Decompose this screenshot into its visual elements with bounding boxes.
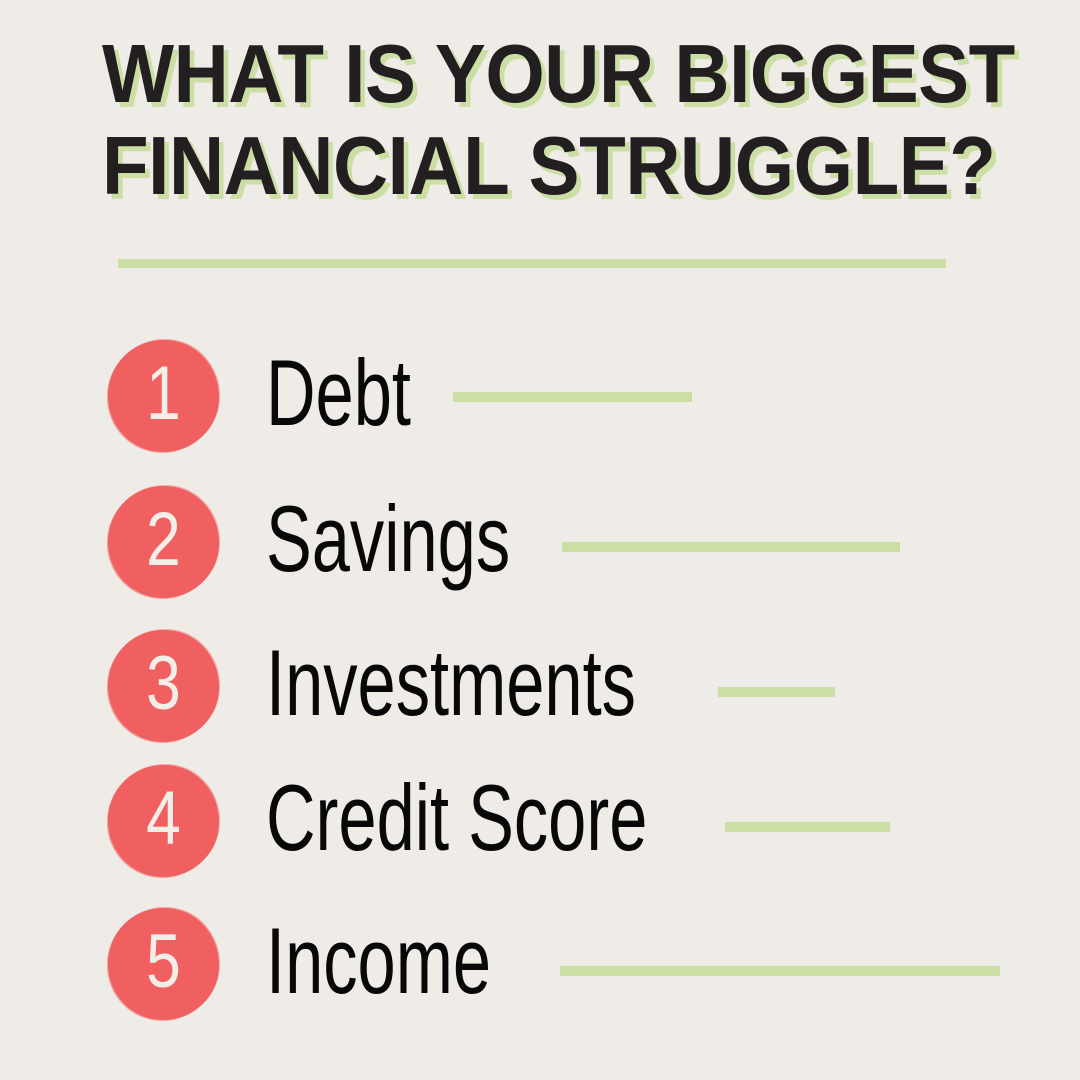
list-item[interactable]: 2 Savings: [0, 486, 1080, 606]
list-item[interactable]: 1 Debt: [0, 340, 1080, 460]
option-number-label: 4: [118, 765, 209, 877]
option-number-badge: 2: [108, 486, 219, 598]
option-number-badge: 5: [108, 908, 219, 1020]
option-number-label: 2: [118, 486, 209, 598]
option-rule: [560, 966, 1000, 976]
poster-canvas: WHAT IS YOUR BIGGEST FINANCIAL STRUGGLE?…: [0, 0, 1080, 1080]
option-label: Income: [266, 908, 491, 1020]
option-number-label: 1: [118, 340, 209, 452]
option-number-badge: 4: [108, 765, 219, 877]
option-number-label: 5: [118, 908, 209, 1020]
answer-options-list: 1 Debt 2 Savings 3 Investments 4 Credit …: [0, 0, 1080, 1080]
option-label: Debt: [266, 340, 411, 452]
option-number-badge: 1: [108, 340, 219, 452]
option-rule: [718, 687, 835, 697]
list-item[interactable]: 3 Investments: [0, 630, 1080, 750]
option-number-label: 3: [118, 630, 209, 742]
option-rule: [725, 822, 890, 832]
option-label: Savings: [266, 486, 510, 598]
option-rule: [562, 542, 900, 552]
option-number-badge: 3: [108, 630, 219, 742]
list-item[interactable]: 4 Credit Score: [0, 765, 1080, 885]
list-item[interactable]: 5 Income: [0, 908, 1080, 1028]
option-label: Investments: [266, 630, 636, 742]
option-rule: [453, 392, 692, 402]
option-label: Credit Score: [266, 765, 647, 877]
